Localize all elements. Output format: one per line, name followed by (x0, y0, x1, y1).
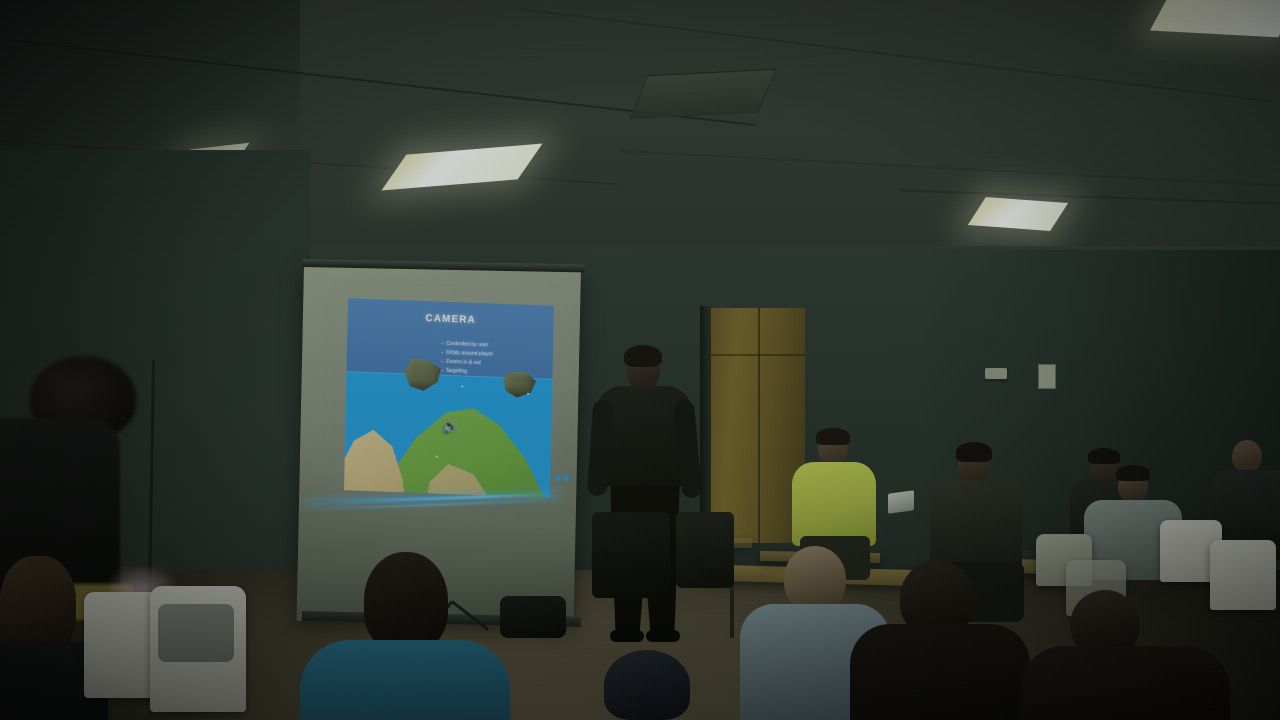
projected-slide: 🔊 CAMERA Controlled by user Orbits aroun… (344, 298, 554, 498)
presenter-hair (624, 345, 662, 367)
head (364, 552, 448, 652)
torso (850, 624, 1030, 720)
presenter-shoe (646, 630, 680, 642)
head (604, 650, 690, 720)
presenter-shoe (610, 630, 644, 642)
head (784, 546, 846, 612)
torso (1020, 646, 1230, 720)
torso (792, 462, 876, 546)
ceiling-vent (630, 69, 776, 120)
hair (0, 556, 76, 656)
chair[interactable] (592, 512, 670, 598)
chair[interactable] (676, 512, 734, 588)
slide-bullet: Targeting (441, 366, 493, 377)
photo-scene: 🔊 CAMERA Controlled by user Orbits aroun… (0, 0, 1280, 720)
light-switch-icon[interactable] (985, 368, 1007, 379)
ceiling-light (968, 197, 1068, 231)
chair-shadow (158, 604, 234, 662)
wall-sign (1038, 364, 1056, 389)
speaker-icon: 🔊 (442, 419, 460, 434)
ceiling-shadow-left (0, 0, 300, 150)
hair (816, 428, 850, 445)
chair[interactable] (1210, 540, 1276, 610)
wooden-cabinet (709, 308, 805, 543)
hair (1088, 448, 1120, 464)
slide-speck (435, 455, 437, 457)
slide-bullet-list: Controlled by user Orbits around player … (441, 340, 493, 377)
hair (956, 442, 992, 462)
head (1232, 440, 1262, 474)
desk-leg (730, 582, 734, 638)
laptop (888, 490, 914, 514)
hair (1116, 465, 1150, 481)
bag (500, 596, 566, 638)
torso (300, 640, 510, 720)
